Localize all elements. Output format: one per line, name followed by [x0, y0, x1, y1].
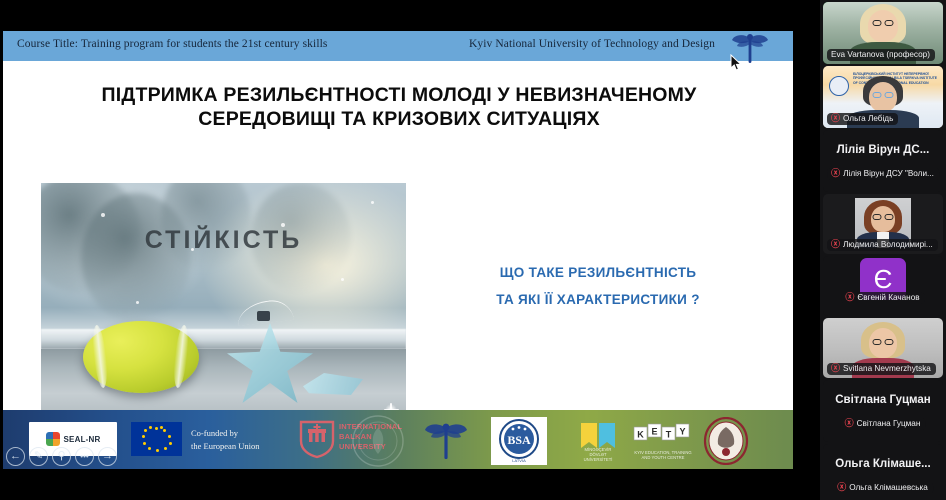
- question-line-1: ЩО ТАКЕ РЕЗИЛЬЄНТНІСТЬ: [433, 259, 763, 286]
- mic-muted-icon: ⓧ: [831, 114, 840, 123]
- participant-name: Eva Vartanova (професор): [831, 50, 930, 59]
- participant-tile-liliia-virun[interactable]: Лілія Вірун ДС... ⓧ Лілія Вірун ДСУ "Вол…: [823, 130, 943, 192]
- mic-muted-icon: ⓧ: [831, 364, 840, 373]
- shared-screen-stage: Course Title: Training program for stude…: [0, 0, 820, 500]
- kety-logo: K E T Y KYIV EDUCATION, TRAINING AND YOU…: [633, 422, 693, 458]
- eu-flag-logo: [131, 422, 182, 456]
- mouse-cursor-icon: [730, 54, 742, 72]
- svg-text:BSA: BSA: [507, 433, 531, 447]
- star-cap-graphic: [257, 311, 270, 321]
- more-options-button[interactable]: •••: [75, 447, 94, 466]
- svg-text:E: E: [651, 427, 657, 437]
- eu-funding-text: Co-funded by the European Union: [191, 423, 287, 455]
- question-line-2: ТА ЯКІ ЇЇ ХАРАКТЕРИСТИКИ ?: [433, 286, 763, 313]
- participant-tile-yevhenii-kachanov[interactable]: Є ⓧ Євгеній Качанов: [823, 256, 943, 316]
- slide-main-title: ПІДТРИМКА РЕЗИЛЬЄНТНОСТІ МОЛОДІ У НЕВИЗН…: [43, 83, 755, 131]
- slide-course-title: Course Title: Training program for stude…: [17, 38, 328, 50]
- eu-funding-line-1: Co-funded by: [191, 428, 238, 438]
- pen-tool-button[interactable]: ✎: [29, 447, 48, 466]
- participant-name-badge: ⓧ Світлана Гуцман: [841, 418, 926, 430]
- international-balkan-university-logo: [297, 419, 337, 459]
- university-crest-logo: [703, 417, 749, 465]
- participant-name: Ольга Клімашевська: [849, 483, 928, 492]
- slide-photo-resilience: СТІЙКІСТЬ: [41, 183, 406, 423]
- faint-university-seal-logo: [351, 414, 405, 468]
- slide-footer-logo-strip: SEAL-NR Co-funded by: [3, 410, 793, 469]
- mic-muted-icon: ⓧ: [831, 169, 840, 178]
- participant-name: Світлана Гуцман: [857, 419, 921, 428]
- participant-name-badge: ⓧ Ольга Лебідь: [827, 113, 898, 125]
- participant-name: Ольга Лебідь: [843, 114, 893, 123]
- seal-nr-mark-icon: [46, 432, 60, 446]
- slide-university-name: Kyiv National University of Technology a…: [469, 38, 715, 50]
- previous-slide-button[interactable]: ←: [6, 447, 25, 466]
- participant-tile-eva-vartanova[interactable]: Eva Vartanova (професор): [823, 2, 943, 64]
- eu-funding-line-2: the European Union: [191, 441, 259, 451]
- tennis-ball-graphic: [83, 321, 199, 393]
- svg-text:LATVIA: LATVIA: [512, 458, 526, 463]
- kety-caption: KYIV EDUCATION, TRAINING AND YOUTH CENTR…: [633, 450, 693, 460]
- svg-text:T: T: [666, 430, 672, 440]
- participant-name-badge: ⓧ Людмила Володимирі...: [827, 239, 938, 251]
- mic-muted-icon: ⓧ: [831, 240, 840, 249]
- participant-name-badge: ⓧ Євгеній Качанов: [841, 292, 924, 304]
- meeting-screen-share-window: Course Title: Training program for stude…: [0, 0, 946, 500]
- slide-question-text: ЩО ТАКЕ РЕЗИЛЬЄНТНІСТЬ ТА ЯКІ ЇЇ ХАРАКТЕ…: [433, 259, 763, 313]
- participant-name-badge: ⓧ Svitlana Nevmerzhytska: [827, 363, 936, 375]
- bsa-university-logo: BSA LATVIA: [491, 417, 547, 465]
- participant-name: Лілія Вірун ДСУ "Воли...: [843, 169, 934, 178]
- mic-muted-icon: ⓧ: [845, 293, 854, 302]
- participant-display-name: Ольга Клімаше...: [823, 458, 943, 470]
- participant-name-badge: ⓧ Лілія Вірун ДСУ "Воли...: [827, 168, 939, 180]
- participant-name-badge: ⓧ Ольга Клімашевська: [833, 482, 933, 494]
- slide-header-band: Course Title: Training program for stude…: [3, 31, 793, 62]
- knutd-dragonfly-logo: [421, 420, 471, 460]
- participant-name: Євгеній Качанов: [857, 293, 919, 302]
- participant-display-name: Лілія Вірун ДС...: [823, 144, 943, 156]
- next-slide-button[interactable]: →: [98, 447, 117, 466]
- participant-name-badge: Eva Vartanova (професор): [827, 49, 935, 61]
- mingachevir-state-university-logo: MİNGƏÇEVİRDÖVLƏT UNİVERSİTETİ: [575, 420, 621, 460]
- mdu-caption: MİNGƏÇEVİRDÖVLƏT UNİVERSİTETİ: [575, 447, 621, 462]
- photo-overlay-text: СТІЙКІСТЬ: [41, 226, 406, 255]
- presentation-slide[interactable]: Course Title: Training program for stude…: [3, 31, 793, 469]
- presentation-controls-toolbar[interactable]: ← ✎ ⚲ ••• →: [6, 447, 117, 466]
- mic-muted-icon: ⓧ: [845, 419, 854, 428]
- participant-tile-olha-lebid[interactable]: БІЛОЦЕРКІВСЬКИЙ ІНСТИТУТ НЕПЕРЕРВНОЇ ПРО…: [823, 66, 943, 128]
- zoom-tool-button[interactable]: ⚲: [52, 447, 71, 466]
- participant-display-name: Світлана Гуцман: [823, 394, 943, 406]
- participant-sidebar[interactable]: Eva Vartanova (професор) БІЛОЦЕРКІВСЬКИЙ…: [820, 0, 946, 500]
- participant-tile-liudmyla-volodymyrivna[interactable]: ⓧ Людмила Володимирі...: [823, 194, 943, 254]
- participant-name: Svitlana Nevmerzhytska: [843, 364, 931, 373]
- institute-seal-icon: [829, 76, 849, 96]
- svg-text:K: K: [637, 430, 644, 440]
- participant-tile-svitlana-hutsman[interactable]: Світлана Гуцман ⓧ Світлана Гуцман: [823, 380, 943, 442]
- participant-tile-olha-klimashevska[interactable]: Ольга Клімаше... ⓧ Ольга Клімашевська: [823, 444, 943, 500]
- participant-tile-svitlana-nevmerzhytska[interactable]: ⓧ Svitlana Nevmerzhytska: [823, 318, 943, 378]
- participant-name: Людмила Володимирі...: [843, 240, 933, 249]
- mic-muted-icon: ⓧ: [837, 483, 846, 492]
- seal-nr-label: SEAL-NR: [64, 435, 101, 444]
- svg-text:Y: Y: [679, 427, 685, 437]
